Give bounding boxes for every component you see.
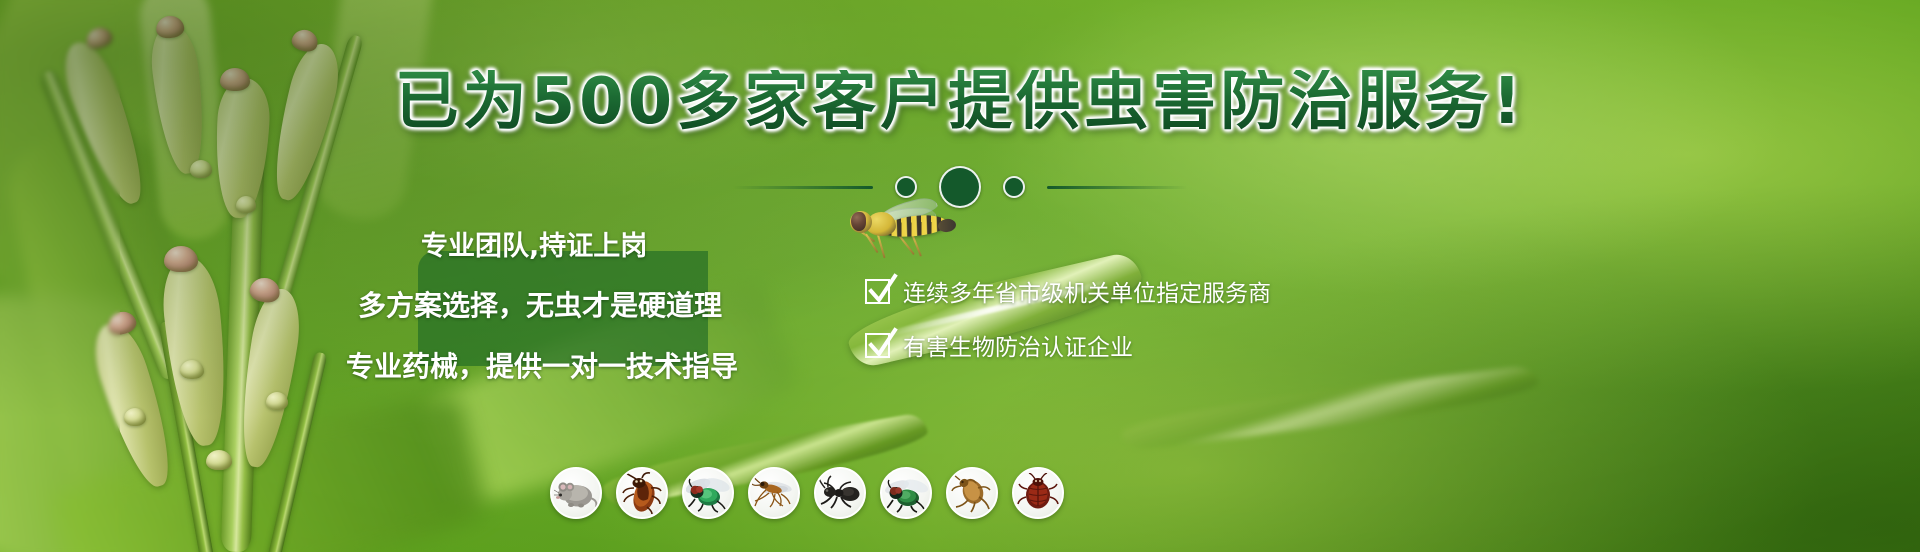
credentials-checklist: 连续多年省市级机关单位指定服务商 有害生物防治认证企业 — [865, 274, 1271, 362]
checkbox-checked-icon — [865, 279, 890, 304]
checkbox-checked-icon — [865, 333, 890, 358]
mouse-icon[interactable] — [550, 467, 602, 519]
highlight-line-3: 专业药械，提供一对一技术指导 — [346, 345, 738, 385]
small-dot-icon — [895, 176, 917, 198]
ant-icon[interactable] — [814, 467, 866, 519]
pest-type-icon-row — [550, 467, 1064, 519]
bedbug-icon[interactable] — [1012, 467, 1064, 519]
list-item: 连续多年省市级机关单位指定服务商 — [865, 274, 1271, 308]
credential-label: 连续多年省市级机关单位指定服务商 — [903, 274, 1271, 308]
decorative-divider — [0, 166, 1920, 208]
pest-control-hero-banner: 已为500多家客户提供虫害防治服务! 专业团队,持证上岗 多方案选择，无虫才是硬… — [0, 0, 1920, 552]
highlights-panel-text: 专业团队,持证上岗 多方案选择，无虫才是硬道理 专业药械，提供一对一技术指导 — [418, 210, 778, 385]
page-title: 已为500多家客户提供虫害防治服务! — [0, 70, 1920, 134]
cockroach-icon[interactable] — [616, 467, 668, 519]
mosquito-icon[interactable] — [748, 467, 800, 519]
small-dot-icon — [1003, 176, 1025, 198]
list-item: 有害生物防治认证企业 — [865, 328, 1271, 362]
flea-icon[interactable] — [946, 467, 998, 519]
highlight-line-1: 专业团队,持证上岗 — [418, 224, 647, 263]
divider-rule-left-icon — [733, 186, 873, 189]
bottlefly-icon[interactable] — [682, 467, 734, 519]
divider-rule-right-icon — [1047, 186, 1187, 189]
large-dot-icon — [939, 166, 981, 208]
housefly-icon[interactable] — [880, 467, 932, 519]
credential-label: 有害生物防治认证企业 — [903, 328, 1133, 362]
highlight-line-2: 多方案选择，无虫才是硬道理 — [358, 284, 722, 324]
